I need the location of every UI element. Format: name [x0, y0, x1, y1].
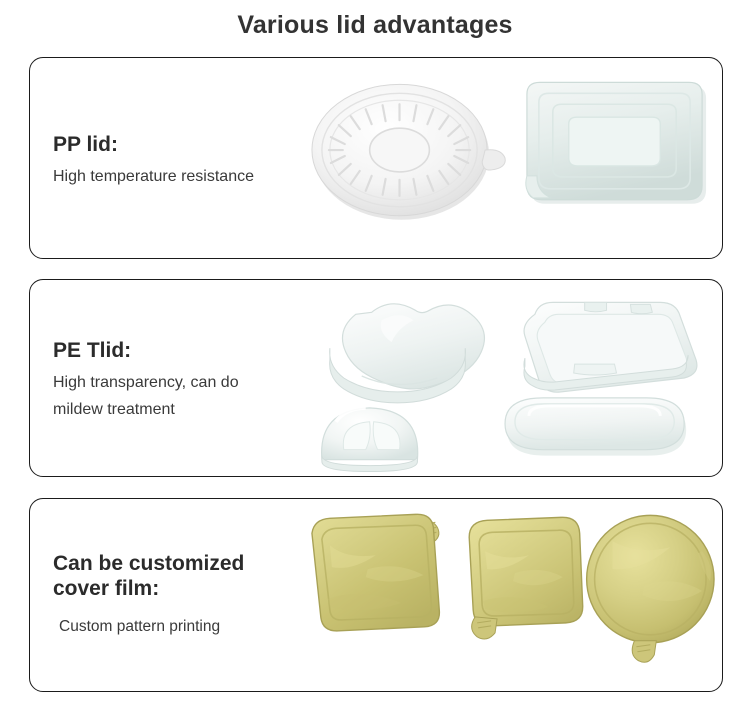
- panel-cover-film-product-images: [300, 499, 722, 691]
- panel-cover-film: Can be customized cover film: Custom pat…: [29, 498, 723, 692]
- page-title: Various lid advantages: [0, 0, 750, 46]
- panel-cover-film-text-block: Can be customized cover film: Custom pat…: [53, 551, 244, 640]
- panel-list: PP lid: High temperature resistance: [29, 57, 723, 692]
- panel-pe-product-images: [300, 280, 722, 476]
- round-ribbed-pp-lid-image: [312, 84, 505, 219]
- round-gold-foil-lid-image: [587, 515, 714, 662]
- panel-pp-heading: PP lid:: [53, 132, 254, 157]
- rectangular-pp-lid-image: [526, 82, 706, 203]
- round-dome-pe-lid-image: [322, 408, 418, 472]
- panel-pe-lid: PE Tlid: High transparency, can do milde…: [29, 279, 723, 477]
- panel-cover-film-description: Custom pattern printing: [53, 613, 244, 640]
- square-gold-foil-lid-image: [469, 517, 583, 639]
- rectangular-gold-foil-lid-image: [312, 514, 439, 631]
- heart-dome-pe-lid-image: [330, 304, 485, 403]
- panel-pp-text-block: PP lid: High temperature resistance: [53, 132, 254, 190]
- panel-pe-heading: PE Tlid:: [53, 338, 239, 363]
- panel-pe-text-block: PE Tlid: High transparency, can do milde…: [53, 338, 239, 423]
- square-dome-pe-lid-image: [524, 302, 697, 392]
- oval-flat-pe-lid-image: [505, 398, 686, 456]
- panel-cover-film-heading: Can be customized cover film:: [53, 551, 244, 601]
- panel-pp-description: High temperature resistance: [53, 163, 254, 190]
- panel-pe-description: High transparency, can do mildew treatme…: [53, 369, 239, 423]
- panel-pp-product-images: [300, 58, 722, 258]
- panel-pp-lid: PP lid: High temperature resistance: [29, 57, 723, 259]
